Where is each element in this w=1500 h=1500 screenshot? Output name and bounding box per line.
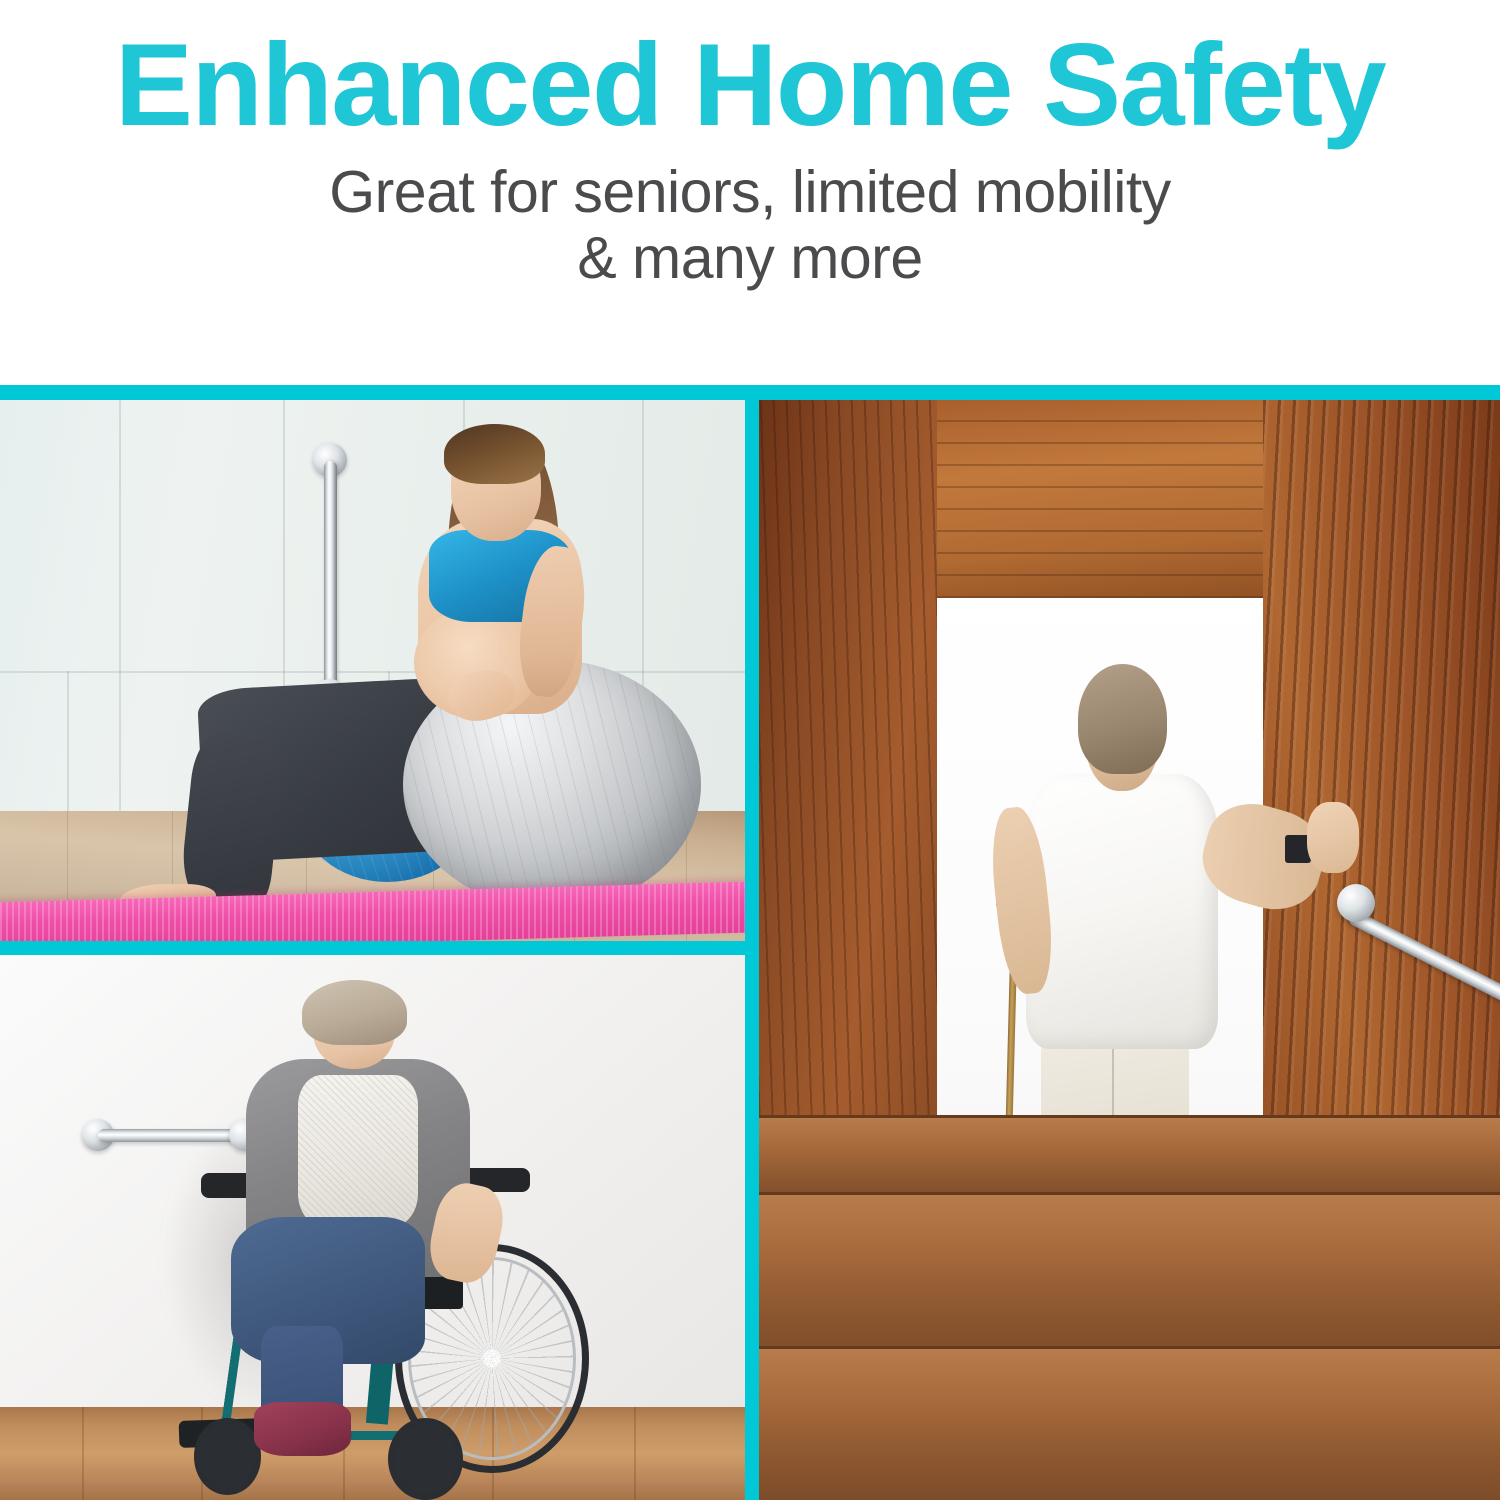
photo-panel-wheelchair-user	[0, 955, 746, 1500]
senior-hair	[302, 980, 406, 1045]
grab-bar-shaft	[1347, 909, 1500, 1010]
vertical-grab-bar-icon	[313, 443, 347, 713]
page-subtitle: Great for seniors, limited mobility & ma…	[329, 159, 1171, 291]
senior-lace-top	[298, 1075, 417, 1228]
grab-bar-shaft	[98, 1129, 245, 1142]
photo-panel-pregnant-woman	[0, 400, 746, 941]
senior-boot	[254, 1402, 351, 1457]
subtitle-line-1: Great for seniors, limited mobility	[329, 159, 1171, 225]
woman-hair-top	[444, 424, 545, 484]
elderly-hair	[1078, 664, 1167, 774]
grab-bar-shaft	[324, 461, 337, 697]
divider-horizontal-accent-bar	[0, 941, 752, 955]
horizontal-grab-bar-icon	[82, 1119, 261, 1153]
stair-tread-1	[759, 1115, 1500, 1203]
elderly-hand-on-wall	[1307, 802, 1359, 874]
wheelchair-caster-left	[194, 1418, 261, 1494]
subtitle-line-2: & many more	[329, 225, 1171, 291]
page-title: Enhanced Home Safety	[115, 26, 1385, 143]
stair-tread-3	[759, 1346, 1500, 1500]
wheelchair-caster-right	[388, 1418, 463, 1500]
elderly-blouse	[1026, 774, 1219, 1049]
grab-bar-flange	[1337, 884, 1375, 922]
photo-panel-stairs-elderly-woman	[759, 400, 1500, 1500]
header-section: Enhanced Home Safety Great for seniors, …	[0, 0, 1500, 385]
product-feature-poster: Enhanced Home Safety Great for seniors, …	[0, 0, 1500, 1500]
stair-tread-2	[759, 1192, 1500, 1357]
diagonal-grab-bar-icon	[1337, 884, 1500, 1126]
